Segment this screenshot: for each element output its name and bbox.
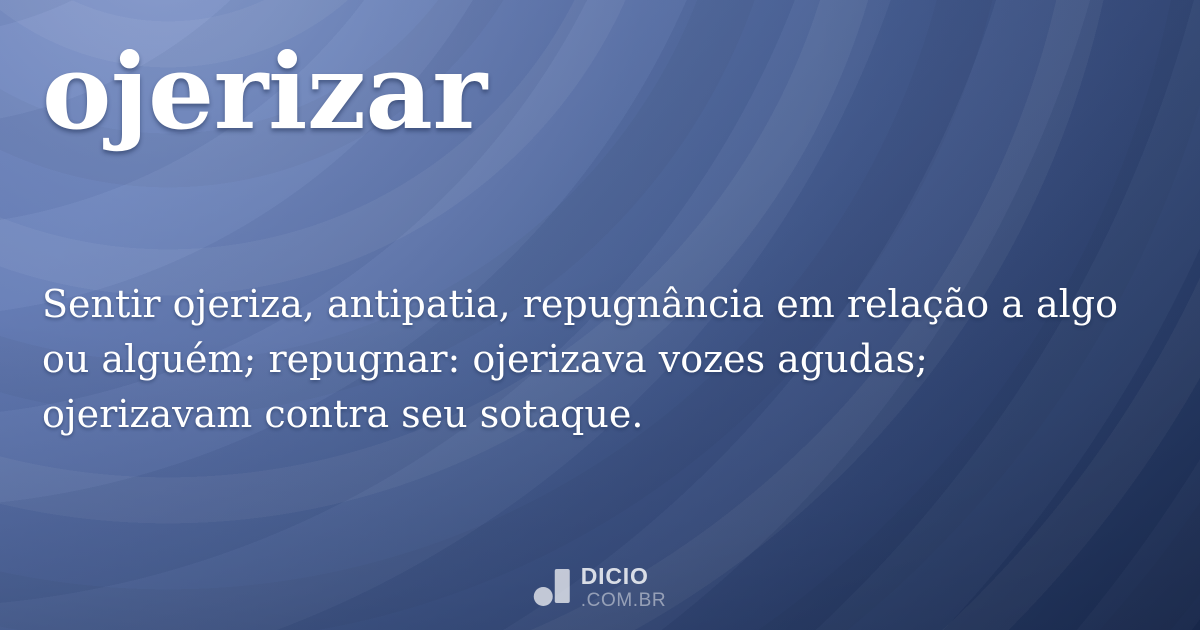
dicio-logo: DICIO .COM.BR: [534, 565, 666, 610]
dicio-logo-mark-icon: [534, 569, 570, 607]
share-card: ojerizar Sentir ojeriza, antipatia, repu…: [0, 0, 1200, 630]
bar-icon: [555, 569, 570, 603]
page-title: ojerizar: [42, 36, 487, 148]
logo-brand-name: DICIO: [581, 565, 666, 588]
dicio-logo-text: DICIO .COM.BR: [581, 565, 666, 610]
circle-icon: [534, 587, 553, 606]
definition-text: Sentir ojeriza, antipatia, repugnância e…: [42, 277, 1142, 442]
card-content: ojerizar Sentir ojeriza, antipatia, repu…: [0, 0, 1200, 630]
logo-domain-suffix: .COM.BR: [581, 591, 666, 610]
